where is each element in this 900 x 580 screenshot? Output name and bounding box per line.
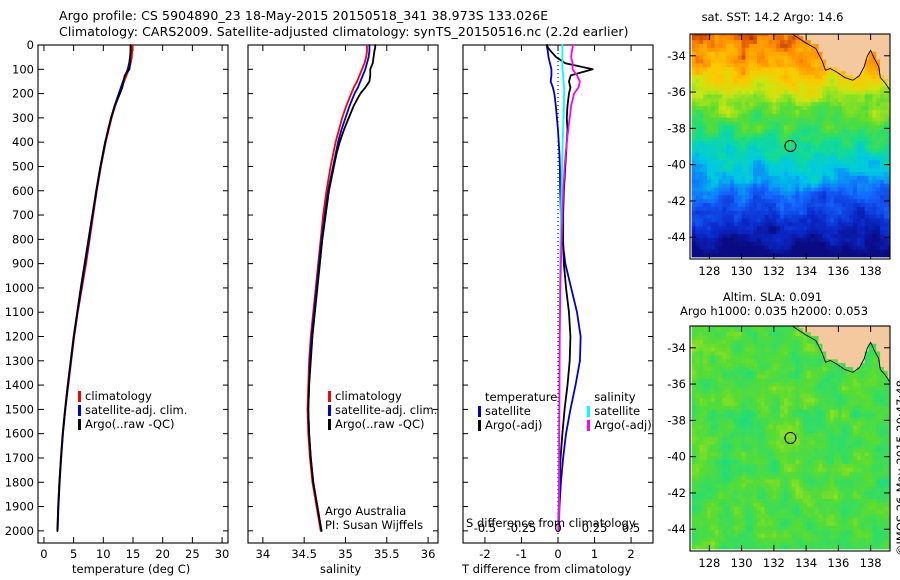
sst-map-title: sat. SST: 14.2 Argo: 14.6 bbox=[665, 10, 880, 24]
legend-item: satellite-adj. clim. bbox=[78, 403, 187, 417]
svg-text:35.5: 35.5 bbox=[374, 547, 400, 561]
sla-map[interactable]: 128130132134136138-34-36-38-40-42-44 bbox=[660, 320, 900, 580]
legend-label: satellite bbox=[485, 404, 531, 418]
svg-text:-42: -42 bbox=[667, 194, 686, 208]
svg-text:400: 400 bbox=[12, 135, 34, 149]
legend-item: climatology bbox=[78, 389, 187, 403]
legend-item: Argo(-adj) bbox=[478, 418, 557, 432]
svg-text:1100: 1100 bbox=[5, 305, 34, 319]
legend-label: satellite-adj. clim. bbox=[335, 403, 437, 417]
legend-swatch-satellite bbox=[328, 405, 331, 416]
svg-text:134: 134 bbox=[795, 264, 817, 278]
legend-swatch-climatology bbox=[78, 391, 81, 402]
svg-text:36: 36 bbox=[421, 547, 436, 561]
legend-item: Argo(-adj) bbox=[587, 418, 651, 432]
svg-text:15: 15 bbox=[126, 547, 141, 561]
svg-text:700: 700 bbox=[12, 208, 34, 222]
page-title-line2: Climatology: CARS2009. Satellite-adjuste… bbox=[59, 24, 629, 39]
legend-item: climatology bbox=[328, 389, 437, 403]
svg-text:1600: 1600 bbox=[5, 427, 34, 441]
svg-text:0: 0 bbox=[554, 547, 561, 561]
svg-text:200: 200 bbox=[12, 87, 34, 101]
page-title-line1: Argo profile: CS 5904890_23 18-May-2015 … bbox=[59, 8, 548, 23]
svg-text:0: 0 bbox=[40, 547, 47, 561]
svg-text:138: 138 bbox=[860, 264, 882, 278]
svg-text:0: 0 bbox=[27, 40, 34, 52]
legend-item: satellite bbox=[587, 404, 651, 418]
svg-text:132: 132 bbox=[763, 264, 785, 278]
difference-axis-label-top: S difference from climatology bbox=[466, 516, 636, 530]
legend-swatch-salinity-satellite bbox=[587, 406, 590, 417]
credit-agency: Argo Australia bbox=[325, 504, 423, 518]
legend-label: climatology bbox=[335, 389, 402, 403]
legend-label: Argo(..raw -QC) bbox=[335, 417, 425, 431]
svg-text:30: 30 bbox=[215, 547, 230, 561]
legend-label: Argo(-adj) bbox=[594, 418, 651, 432]
legend-label: Argo(..raw -QC) bbox=[85, 417, 175, 431]
legend-item: Argo(..raw -QC) bbox=[328, 417, 437, 431]
temperature-panel: 0100200300400500600700800900100011001200… bbox=[0, 40, 240, 580]
svg-text:500: 500 bbox=[12, 159, 34, 173]
svg-text:5: 5 bbox=[70, 547, 77, 561]
svg-text:300: 300 bbox=[12, 111, 34, 125]
legend-swatch-climatology bbox=[328, 391, 331, 402]
legend-item: satellite-adj. clim. bbox=[328, 403, 437, 417]
legend-swatch-satellite bbox=[78, 405, 81, 416]
svg-text:-34: -34 bbox=[667, 49, 686, 63]
svg-text:128: 128 bbox=[698, 264, 720, 278]
legend-swatch-argo bbox=[328, 419, 331, 430]
credit-pi: PI: Susan Wijffels bbox=[325, 518, 423, 532]
legend-item: Argo(..raw -QC) bbox=[78, 417, 187, 431]
salinity-axis-label: salinity bbox=[320, 562, 361, 576]
svg-text:10: 10 bbox=[96, 547, 111, 561]
legend-label: satellite-adj. clim. bbox=[85, 403, 187, 417]
legend-swatch-satellite bbox=[478, 406, 481, 417]
legend-label: satellite bbox=[594, 404, 640, 418]
svg-text:-38: -38 bbox=[667, 121, 686, 135]
svg-text:25: 25 bbox=[185, 547, 200, 561]
legend-swatch-salinity-argo bbox=[587, 420, 590, 431]
temperature-legend: climatology satellite-adj. clim. Argo(..… bbox=[78, 389, 187, 431]
salinity-plot[interactable]: 3434.53535.536 bbox=[240, 40, 455, 580]
svg-text:1300: 1300 bbox=[5, 354, 34, 368]
difference-axis-label-bottom: T difference from climatology bbox=[462, 562, 631, 576]
svg-text:35: 35 bbox=[338, 547, 353, 561]
svg-text:900: 900 bbox=[12, 257, 34, 271]
svg-text:34.5: 34.5 bbox=[291, 547, 317, 561]
svg-text:20: 20 bbox=[155, 547, 170, 561]
temperature-axis-label: temperature (deg C) bbox=[72, 562, 190, 576]
legend-header: temperature bbox=[485, 390, 557, 404]
svg-text:34: 34 bbox=[256, 547, 271, 561]
svg-text:2000: 2000 bbox=[5, 524, 34, 538]
svg-text:600: 600 bbox=[12, 184, 34, 198]
credit-block: Argo Australia PI: Susan Wijffels bbox=[325, 504, 423, 532]
svg-text:1: 1 bbox=[591, 547, 598, 561]
svg-text:1900: 1900 bbox=[5, 500, 34, 514]
svg-text:1000: 1000 bbox=[5, 281, 34, 295]
legend-label: climatology bbox=[85, 389, 152, 403]
difference-panel: -2-1012-0.5-0.2500.250.5 bbox=[455, 40, 660, 580]
svg-text:136: 136 bbox=[827, 264, 849, 278]
legend-item: satellite bbox=[478, 404, 557, 418]
svg-text:1200: 1200 bbox=[5, 330, 34, 344]
svg-text:130: 130 bbox=[731, 264, 753, 278]
svg-text:2: 2 bbox=[627, 547, 634, 561]
sla-map-title-line1: Altim. SLA: 0.091 bbox=[665, 290, 880, 304]
svg-text:800: 800 bbox=[12, 232, 34, 246]
sst-map[interactable]: 128130132134136138-34-36-38-40-42-44 bbox=[660, 28, 900, 288]
svg-text:100: 100 bbox=[12, 62, 34, 76]
salinity-panel: 3434.53535.536 bbox=[240, 40, 455, 580]
svg-text:1700: 1700 bbox=[5, 451, 34, 465]
legend-label: Argo(-adj) bbox=[485, 418, 542, 432]
difference-legend: temperature satellite Argo(-adj) salinit… bbox=[478, 390, 652, 432]
difference-legend-salinity: salinity satellite Argo(-adj) bbox=[587, 390, 651, 432]
legend-header: salinity bbox=[594, 390, 651, 404]
copyright-label: ©IMOS 26-May-2015 20:47:48 bbox=[894, 380, 900, 556]
legend-swatch-argo bbox=[78, 419, 81, 430]
difference-plot[interactable]: -2-1012-0.5-0.2500.250.5 bbox=[455, 40, 660, 580]
svg-text:-36: -36 bbox=[667, 85, 686, 99]
svg-text:-40: -40 bbox=[667, 158, 686, 172]
svg-text:1800: 1800 bbox=[5, 475, 34, 489]
salinity-legend: climatology satellite-adj. clim. Argo(..… bbox=[328, 389, 437, 431]
svg-text:-44: -44 bbox=[667, 230, 686, 244]
svg-text:1400: 1400 bbox=[5, 378, 34, 392]
legend-swatch-argo bbox=[478, 420, 481, 431]
svg-text:1500: 1500 bbox=[5, 402, 34, 416]
svg-text:-2: -2 bbox=[479, 547, 490, 561]
svg-text:-1: -1 bbox=[516, 547, 527, 561]
difference-legend-temperature: temperature satellite Argo(-adj) bbox=[478, 390, 557, 432]
sla-map-title-line2: Argo h1000: 0.035 h2000: 0.053 bbox=[660, 304, 888, 318]
temperature-plot[interactable]: 0100200300400500600700800900100011001200… bbox=[0, 40, 240, 580]
